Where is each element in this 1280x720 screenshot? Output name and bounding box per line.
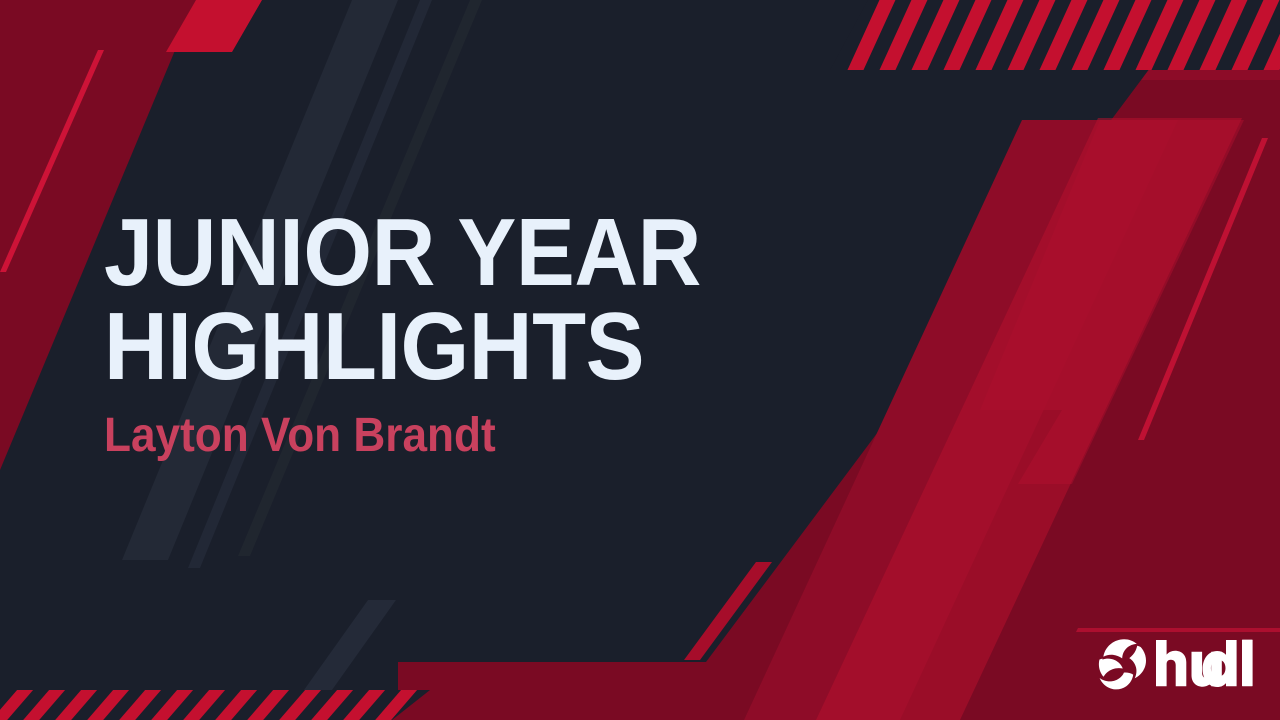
title-text-block: JUNIOR YEAR HIGHLIGHTS Layton Von Brandt xyxy=(104,206,864,463)
hudl-wordmark xyxy=(1156,640,1253,687)
hudl-logo xyxy=(1090,636,1258,698)
hudl-logo-icon xyxy=(1099,639,1146,689)
right-accent-line-2 xyxy=(1076,628,1280,632)
title-line-1: JUNIOR YEAR xyxy=(104,206,803,300)
highlight-title-card: JUNIOR YEAR HIGHLIGHTS Layton Von Brandt xyxy=(0,0,1280,720)
title-line-2: HIGHLIGHTS xyxy=(104,300,803,394)
athlete-name: Layton Von Brandt xyxy=(104,408,803,463)
